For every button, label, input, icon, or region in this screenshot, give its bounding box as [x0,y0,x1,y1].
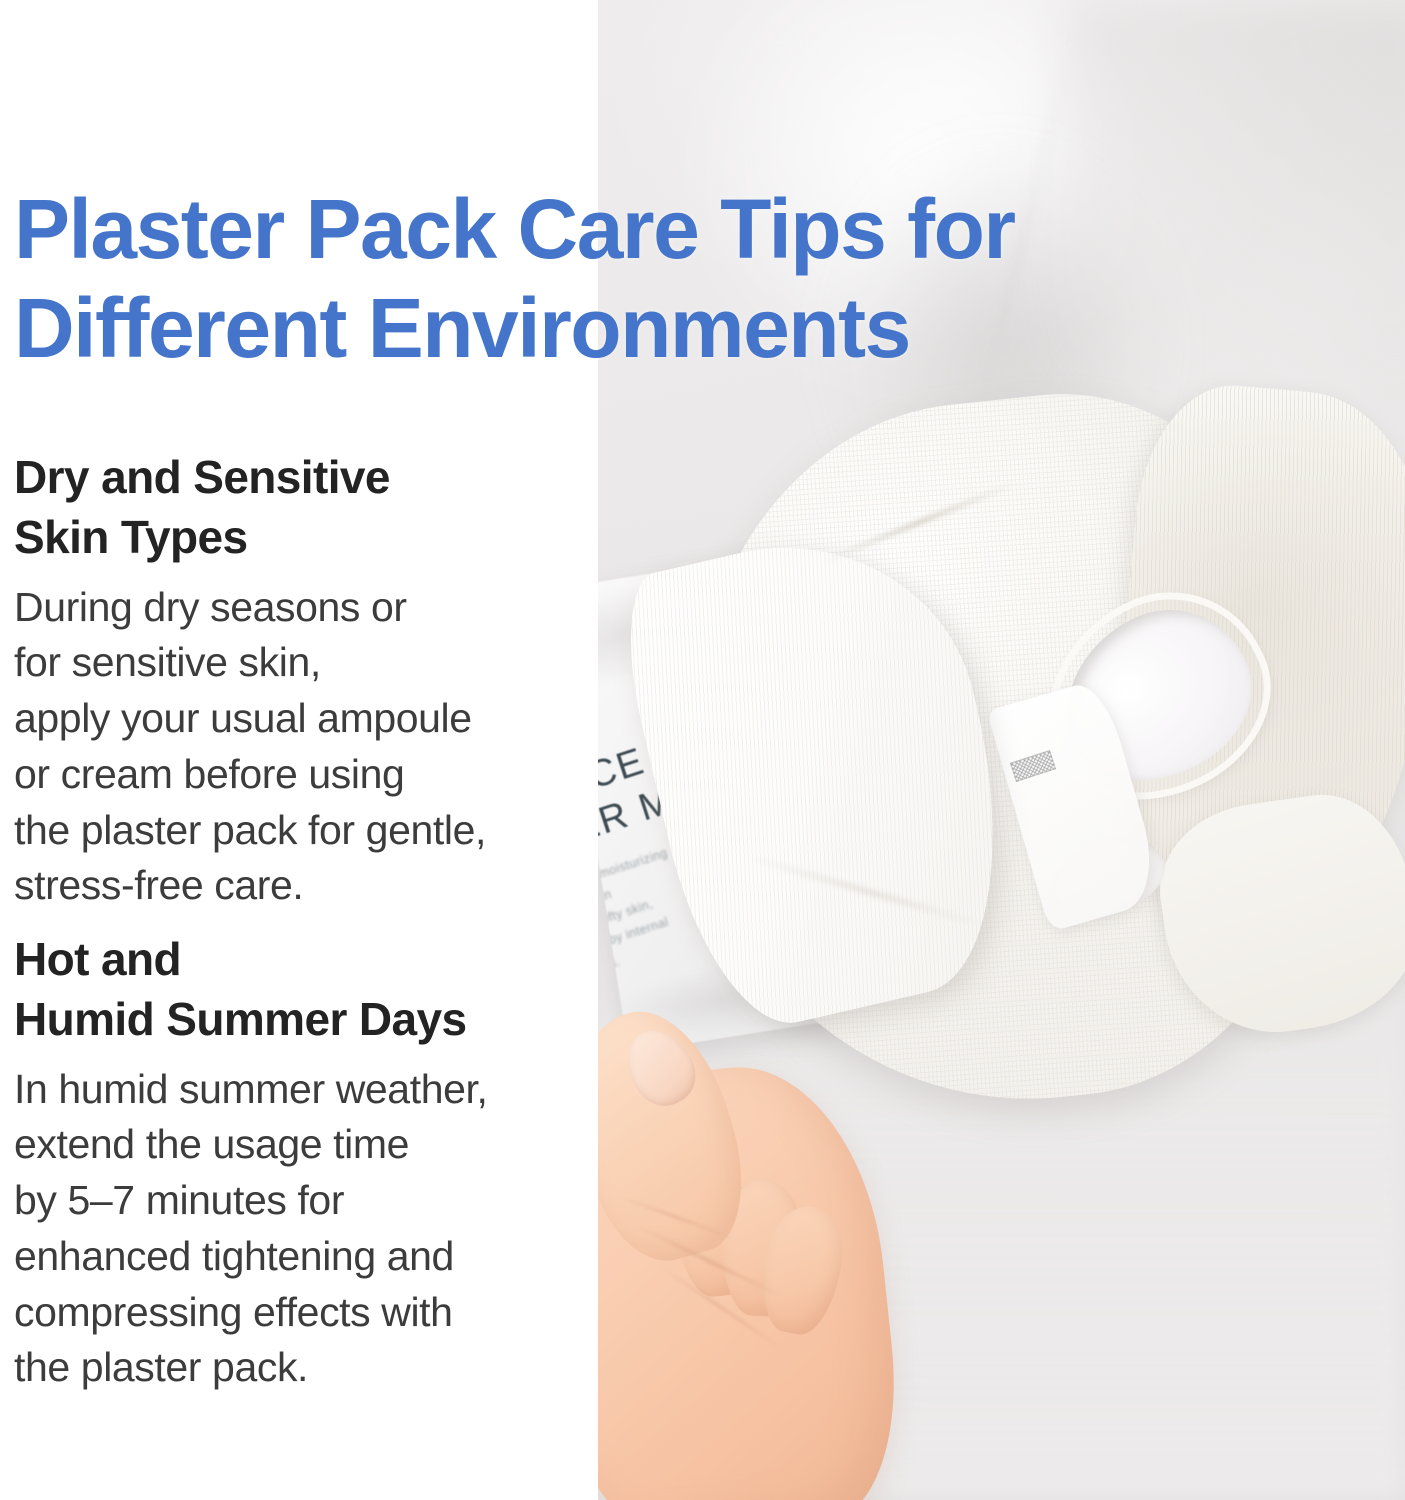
body-line-2: for sensitive skin, [14,635,574,691]
heading-line-1: Dry and Sensitive [14,448,574,508]
body-line-4: enhanced tightening and [14,1229,574,1285]
thumbnail [614,1018,707,1117]
body-line-2: extend the usage time [14,1117,574,1173]
page-title: Plaster Pack Care Tips for Different Env… [14,180,1314,377]
body-line-6: the plaster pack. [14,1340,574,1396]
body-line-3: apply your usual ampoule [14,691,574,747]
section-dry-and-sensitive-skin-types: Dry and Sensitive Skin Types During dry … [14,448,574,914]
body-line-5: compressing effects with [14,1285,574,1341]
body-line-3: by 5–7 minutes for [14,1173,574,1229]
section-heading-dry-skin: Dry and Sensitive Skin Types [14,448,574,568]
page-title-line-2: Different Environments [14,279,1314,377]
hand-holding-mask [598,1010,1026,1500]
heading-line-2: Humid Summer Days [14,990,574,1050]
body-line-1: In humid summer weather, [14,1062,574,1118]
heading-line-2: Skin Types [14,508,574,568]
section-body-humid-summer: In humid summer weather, extend the usag… [14,1062,574,1397]
body-line-1: During dry seasons or [14,580,574,636]
body-line-5: the plaster pack for gentle, [14,803,574,859]
heading-line-1: Hot and [14,930,574,990]
body-line-4: or cream before using [14,747,574,803]
page-title-line-1: Plaster Pack Care Tips for [14,180,1314,278]
section-body-dry-skin: During dry seasons or for sensitive skin… [14,580,574,915]
section-heading-humid-summer: Hot and Humid Summer Days [14,930,574,1050]
body-line-6: stress-free care. [14,858,574,914]
product-infographic-page: FACE FIT TER MASK truly moisturizing e s… [0,0,1405,1500]
section-hot-and-humid-summer-days: Hot and Humid Summer Days In humid summe… [14,930,574,1396]
